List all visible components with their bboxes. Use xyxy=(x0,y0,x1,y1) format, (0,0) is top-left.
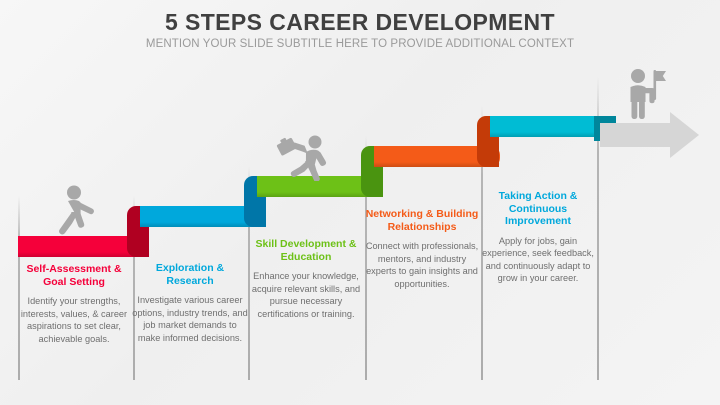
running-person-with-briefcase-icon xyxy=(275,133,333,181)
step-1-heading: Self-Assessment & Goal Setting xyxy=(15,263,133,288)
step-1-text-block: Self-Assessment & Goal Setting Identify … xyxy=(15,263,133,345)
step-2-body: Investigate various career options, indu… xyxy=(131,294,249,344)
step-4-body: Connect with professionals, mentors, and… xyxy=(363,240,481,290)
step-5-body: Apply for jobs, gain experience, seek fe… xyxy=(479,235,597,285)
page-subtitle: MENTION YOUR SLIDE SUBTITLE HERE TO PROV… xyxy=(0,38,720,50)
step-5-heading: Taking Action & Continuous Improvement xyxy=(479,190,597,228)
step-3-text-block: Skill Development & Education Enhance yo… xyxy=(247,238,365,320)
slide-canvas: 5 STEPS CAREER DEVELOPMENT MENTION YOUR … xyxy=(0,0,720,405)
step-3-body: Enhance your knowledge, acquire relevant… xyxy=(247,270,365,320)
step-3-heading: Skill Development & Education xyxy=(247,238,365,263)
step-1-body: Identify your strengths, interests, valu… xyxy=(15,295,133,345)
step-4-text-block: Networking & Building Relationships Conn… xyxy=(363,208,481,290)
step-4-heading: Networking & Building Relationships xyxy=(363,208,481,233)
person-with-flag-icon xyxy=(625,68,669,120)
page-title: 5 STEPS CAREER DEVELOPMENT xyxy=(0,9,720,36)
walking-person-icon xyxy=(55,185,101,239)
step-2-text-block: Exploration & Research Investigate vario… xyxy=(131,262,249,344)
step-2-heading: Exploration & Research xyxy=(131,262,249,287)
step-5-text-block: Taking Action & Continuous Improvement A… xyxy=(479,190,597,285)
